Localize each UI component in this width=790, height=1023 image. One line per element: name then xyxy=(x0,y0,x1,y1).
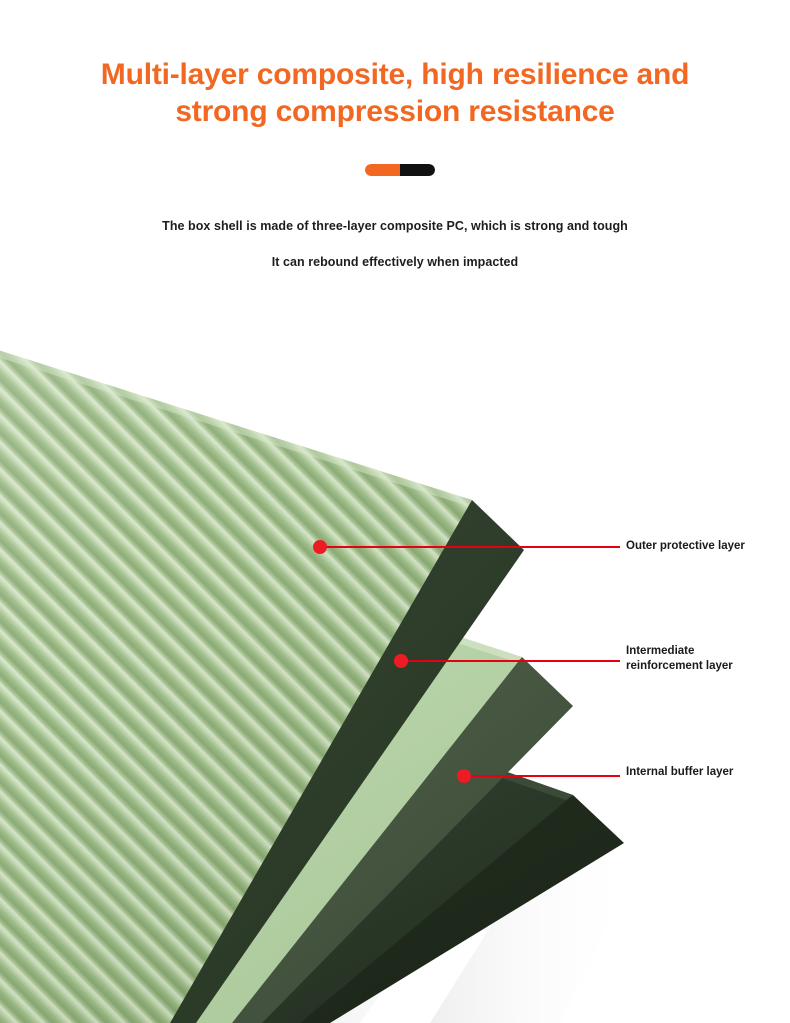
header: Multi-layer composite, high resilience a… xyxy=(0,0,790,300)
subtitle-line-2: It can rebound effectively when impacted xyxy=(45,255,745,269)
subtitle-line-1: The box shell is made of three-layer com… xyxy=(45,219,745,233)
divider-segment-orange xyxy=(365,164,400,176)
product-feature-page: Multi-layer composite, high resilience a… xyxy=(0,0,790,1023)
callout-label-outer-protective-layer: Outer protective layer xyxy=(626,539,745,554)
divider-segment-black xyxy=(400,164,435,176)
divider xyxy=(365,164,435,176)
callout-label-intermediate-reinforcement-layer: Intermediate reinforcement layer xyxy=(626,644,733,673)
callout-label-internal-buffer-layer: Internal buffer layer xyxy=(626,765,733,780)
page-title: Multi-layer composite, high resilience a… xyxy=(50,56,740,130)
